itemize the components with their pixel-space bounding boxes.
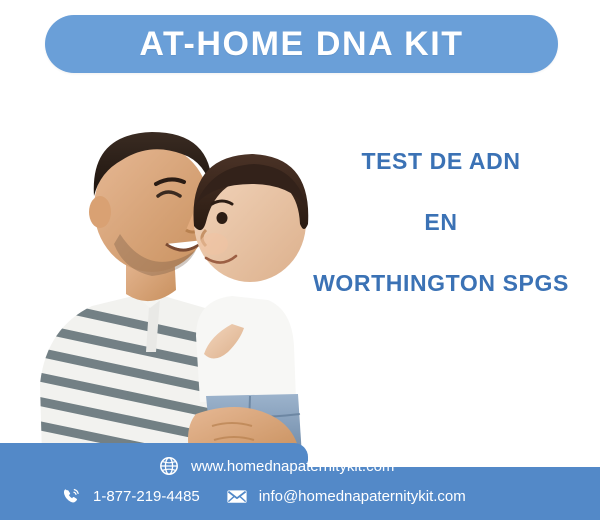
footer-website-text: www.homednapaternitykit.com <box>191 459 394 474</box>
family-photo-illustration <box>0 84 318 456</box>
footer-contact-row: 1-877-219-4485 info@homednapaternitykit.… <box>60 485 466 507</box>
child-eye <box>217 212 228 224</box>
banner-title: AT-HOME DNA KIT <box>139 27 463 61</box>
footer-phone-text: 1-877-219-4485 <box>93 489 200 504</box>
headline-line-3: WORTHINGTON SPGS <box>296 272 586 295</box>
footer-email-text: info@homednapaternitykit.com <box>259 489 466 504</box>
footer-website-item[interactable]: www.homednapaternitykit.com <box>158 455 394 477</box>
family-photo <box>0 84 318 456</box>
footer-website-row: www.homednapaternitykit.com <box>158 455 394 477</box>
footer: www.homednapaternitykit.com 1-877-219-44… <box>0 443 600 520</box>
headline-line-1: TEST DE ADN <box>296 150 586 173</box>
envelope-icon <box>226 485 248 507</box>
headline-line-2: EN <box>296 211 586 234</box>
globe-icon <box>158 455 180 477</box>
promo-poster: AT-HOME DNA KIT <box>0 0 600 520</box>
man-ear <box>89 196 111 228</box>
phone-icon <box>60 485 82 507</box>
header-banner: AT-HOME DNA KIT <box>45 15 558 73</box>
footer-content: www.homednapaternitykit.com 1-877-219-44… <box>0 443 600 520</box>
footer-email-item[interactable]: info@homednapaternitykit.com <box>226 485 466 507</box>
headline-block: TEST DE ADN EN WORTHINGTON SPGS <box>296 150 586 295</box>
footer-phone-item[interactable]: 1-877-219-4485 <box>60 485 200 507</box>
